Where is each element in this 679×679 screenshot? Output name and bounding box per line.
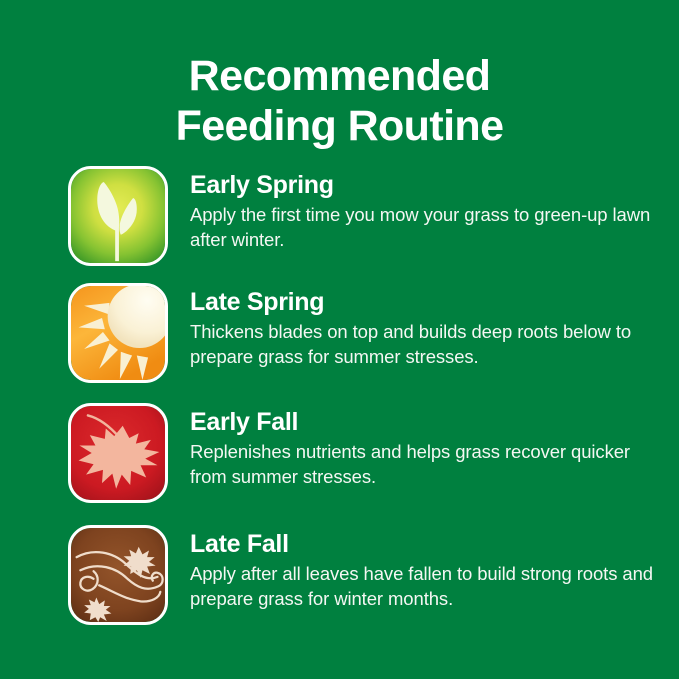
- routine-description: Replenishes nutrients and helps grass re…: [190, 440, 668, 489]
- page-title-line-1: Recommended: [0, 51, 679, 101]
- page-title-line-2: Feeding Routine: [0, 101, 679, 151]
- routine-text-block: Early Fall Replenishes nutrients and hel…: [190, 407, 668, 489]
- routine-description: Apply after all leaves have fallen to bu…: [190, 562, 668, 611]
- routine-text-block: Early Spring Apply the first time you mo…: [190, 170, 668, 252]
- routine-description: Thickens blades on top and builds deep r…: [190, 320, 668, 369]
- routine-description: Apply the first time you mow your grass …: [190, 203, 668, 252]
- routine-text-block: Late Spring Thickens blades on top and b…: [190, 287, 668, 369]
- sun-icon: [68, 283, 168, 383]
- page-title: Recommended Feeding Routine: [0, 51, 679, 151]
- routine-heading: Late Spring: [190, 287, 668, 317]
- routine-text-block: Late Fall Apply after all leaves have fa…: [190, 529, 668, 611]
- routine-heading: Early Fall: [190, 407, 668, 437]
- maple-leaf-icon: [68, 403, 168, 503]
- falling-leaves-wind-icon: [68, 525, 168, 625]
- feeding-routine-poster: Recommended Feeding Routine: [0, 0, 679, 679]
- sprout-icon: [68, 166, 168, 266]
- routine-heading: Late Fall: [190, 529, 668, 559]
- routine-heading: Early Spring: [190, 170, 668, 200]
